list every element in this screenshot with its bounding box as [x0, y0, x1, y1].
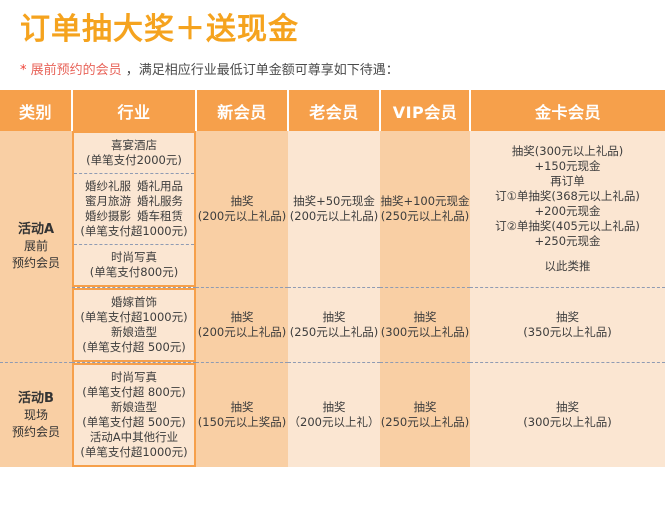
category-line2: 展前	[0, 238, 72, 255]
industry-line: 婚礼用品	[137, 179, 183, 194]
benefit-line: (150元以上奖品)	[196, 415, 288, 430]
benefit-line: 抽奖	[196, 194, 288, 209]
table-row: 活动A 展前 预约会员 喜宴酒店 (单笔支付2000元)	[0, 131, 665, 288]
benefit-line: 抽奖+50元现金	[288, 194, 380, 209]
benefit-cell-vip-b: 抽奖 (250元以上礼品)	[380, 363, 470, 468]
benefit-line: (250元以上礼品)	[380, 209, 470, 224]
benefit-line: 以此类推	[470, 259, 665, 274]
category-name: 活动A	[0, 221, 72, 238]
industry-line: (单笔支付超1000元)	[76, 310, 192, 325]
benefit-line: 订②单抽奖(405元以上礼品)	[470, 219, 665, 234]
industry-line: (单笔支付超 800元)	[76, 385, 192, 400]
asterisk-marker: *	[20, 63, 27, 78]
benefit-line: 抽奖	[196, 400, 288, 415]
industry-sublist: 喜宴酒店 (单笔支付2000元) 婚纱礼服 婚礼用品	[74, 133, 194, 285]
industry-line: 婚纱摄影	[85, 209, 131, 224]
industry-box: 喜宴酒店 (单笔支付2000元) 婚纱礼服 婚礼用品	[72, 131, 196, 287]
column-header-gold: 金卡会员	[470, 90, 665, 131]
benefit-line: 抽奖	[288, 400, 380, 415]
industry-line: 新娘造型	[76, 325, 192, 340]
industry-item: 喜宴酒店 (单笔支付2000元)	[74, 133, 194, 174]
promo-table-page: 订单抽大奖＋送现金 * 展前预约的会员 ，满足相应行业最低订单金额可尊享如下待遇…	[0, 0, 665, 516]
benefit-line: (200元以上礼品)	[196, 325, 288, 340]
benefit-cell-new-a2: 抽奖 (200元以上礼品)	[196, 288, 288, 363]
industry-sub-row: 婚纱礼服 婚礼用品 蜜月旅游 婚礼服务 婚纱摄影 婚车租赁	[74, 174, 194, 245]
industry-line: (单笔支付超1000元)	[76, 224, 192, 239]
industry-sub-row: 时尚写真 (单笔支付超 800元) 新娘造型 (单笔支付超 500元) 活动A中…	[74, 365, 194, 465]
subtitle-rest: ，满足相应行业最低订单金额可尊享如下待遇：	[126, 63, 399, 78]
benefit-line: +150元现金	[470, 159, 665, 174]
industry-pair: 婚纱摄影 婚车租赁	[76, 209, 192, 224]
benefit-cell-gold-b: 抽奖 (300元以上礼品)	[470, 363, 665, 468]
benefit-cell-old-a2: 抽奖 (250元以上礼品)	[288, 288, 380, 363]
category-cell-activity-a: 活动A 展前 预约会员	[0, 131, 72, 363]
industry-cell-group-a2: 婚嫁首饰 (单笔支付超1000元) 新娘造型 (单笔支付超 500元)	[72, 288, 196, 363]
industry-line: 时尚写真	[76, 250, 192, 265]
benefit-line: (300元以上礼品)	[470, 415, 665, 430]
benefit-cell-new-a: 抽奖 (200元以上礼品)	[196, 131, 288, 288]
column-header-category: 类别	[0, 90, 72, 131]
industry-sub-row: 婚嫁首饰 (单笔支付超1000元) 新娘造型 (单笔支付超 500元)	[74, 290, 194, 360]
industry-sub-row: 时尚写真 (单笔支付800元)	[74, 245, 194, 286]
industry-item: 时尚写真 (单笔支付800元)	[74, 245, 194, 286]
benefit-cell-old-b: 抽奖 （200元以上礼）	[288, 363, 380, 468]
column-header-vip: VIP会员	[380, 90, 470, 131]
benefit-line: +250元现金	[470, 234, 665, 249]
industry-sub-row: 喜宴酒店 (单笔支付2000元)	[74, 133, 194, 174]
industry-line: 婚车租赁	[137, 209, 183, 224]
column-header-industry: 行业	[72, 90, 196, 131]
category-line2: 现场	[0, 407, 72, 424]
industry-line: 蜜月旅游	[85, 194, 131, 209]
industry-line: (单笔支付超1000元)	[76, 445, 192, 460]
benefit-line: 抽奖+100元现金	[380, 194, 470, 209]
benefit-line: 抽奖(300元以上礼品)	[470, 144, 665, 159]
benefit-cell-vip-a2: 抽奖 (300元以上礼品)	[380, 288, 470, 363]
benefit-spacer	[470, 249, 665, 259]
page-subtitle: * 展前预约的会员 ，满足相应行业最低订单金额可尊享如下待遇：	[20, 62, 399, 80]
table-row: 婚嫁首饰 (单笔支付超1000元) 新娘造型 (单笔支付超 500元) 抽奖 (…	[0, 288, 665, 363]
benefit-line: 抽奖	[470, 400, 665, 415]
industry-line: 新娘造型	[76, 400, 192, 415]
industry-box: 时尚写真 (单笔支付超 800元) 新娘造型 (单笔支付超 500元) 活动A中…	[72, 363, 196, 467]
benefit-line: (200元以上礼品)	[196, 209, 288, 224]
industry-line: 时尚写真	[76, 370, 192, 385]
industry-sublist: 时尚写真 (单笔支付超 800元) 新娘造型 (单笔支付超 500元) 活动A中…	[74, 365, 194, 465]
industry-line: (单笔支付2000元)	[76, 153, 192, 168]
industry-line: 婚嫁首饰	[76, 295, 192, 310]
table-header-row: 类别 行业 新会员 老会员 VIP会员 金卡会员	[0, 90, 665, 131]
benefits-table: 类别 行业 新会员 老会员 VIP会员 金卡会员 活动A 展前 预约会员 喜宴酒…	[0, 90, 665, 467]
category-line3: 预约会员	[0, 255, 72, 272]
benefit-line: (250元以上礼品)	[380, 415, 470, 430]
column-header-old: 老会员	[288, 90, 380, 131]
benefit-line: 抽奖	[380, 400, 470, 415]
benefit-line: 抽奖	[380, 310, 470, 325]
benefit-cell-gold-a: 抽奖(300元以上礼品) +150元现金 再订单 订①单抽奖(368元以上礼品)…	[470, 131, 665, 288]
benefit-line: 抽奖	[196, 310, 288, 325]
industry-line: 婚纱礼服	[85, 179, 131, 194]
benefit-line: 抽奖	[288, 310, 380, 325]
benefit-line: (350元以上礼品)	[470, 325, 665, 340]
category-line3: 预约会员	[0, 424, 72, 441]
benefit-line: 再订单	[470, 174, 665, 189]
benefit-line: （200元以上礼）	[288, 415, 380, 430]
industry-pair: 蜜月旅游 婚礼服务	[76, 194, 192, 209]
industry-line: 婚礼服务	[137, 194, 183, 209]
benefit-line: (250元以上礼品)	[288, 325, 380, 340]
industry-line: (单笔支付超 500元)	[76, 415, 192, 430]
industry-pair: 婚纱礼服 婚礼用品	[76, 179, 192, 194]
industry-sublist: 婚嫁首饰 (单笔支付超1000元) 新娘造型 (单笔支付超 500元)	[74, 290, 194, 360]
industry-line: 活动A中其他行业	[76, 430, 192, 445]
benefit-line: (200元以上礼品)	[288, 209, 380, 224]
category-cell-activity-b: 活动B 现场 预约会员	[0, 363, 72, 468]
benefit-cell-old-a: 抽奖+50元现金 (200元以上礼品)	[288, 131, 380, 288]
subtitle-highlight: 展前预约的会员	[31, 63, 122, 78]
industry-line: 喜宴酒店	[76, 138, 192, 153]
category-name: 活动B	[0, 390, 72, 407]
industry-box: 婚嫁首饰 (单笔支付超1000元) 新娘造型 (单笔支付超 500元)	[72, 288, 196, 362]
column-header-new: 新会员	[196, 90, 288, 131]
benefit-line: (300元以上礼品)	[380, 325, 470, 340]
benefit-cell-gold-a2: 抽奖 (350元以上礼品)	[470, 288, 665, 363]
benefit-line: +200元现金	[470, 204, 665, 219]
industry-cell-group-b: 时尚写真 (单笔支付超 800元) 新娘造型 (单笔支付超 500元) 活动A中…	[72, 363, 196, 468]
table-row: 活动B 现场 预约会员 时尚写真 (单笔支付超 800元) 新娘造型 (单笔支付…	[0, 363, 665, 468]
page-title: 订单抽大奖＋送现金	[20, 11, 299, 49]
industry-item: 婚纱礼服 婚礼用品 蜜月旅游 婚礼服务 婚纱摄影 婚车租赁	[74, 174, 194, 245]
industry-item: 时尚写真 (单笔支付超 800元) 新娘造型 (单笔支付超 500元) 活动A中…	[74, 365, 194, 465]
benefit-line: 订①单抽奖(368元以上礼品)	[470, 189, 665, 204]
industry-line: (单笔支付800元)	[76, 265, 192, 280]
benefit-cell-new-b: 抽奖 (150元以上奖品)	[196, 363, 288, 468]
benefit-line: 抽奖	[470, 310, 665, 325]
industry-cell-group-a: 喜宴酒店 (单笔支付2000元) 婚纱礼服 婚礼用品	[72, 131, 196, 288]
industry-line: (单笔支付超 500元)	[76, 340, 192, 355]
industry-item: 婚嫁首饰 (单笔支付超1000元) 新娘造型 (单笔支付超 500元)	[74, 290, 194, 360]
benefit-cell-vip-a: 抽奖+100元现金 (250元以上礼品)	[380, 131, 470, 288]
